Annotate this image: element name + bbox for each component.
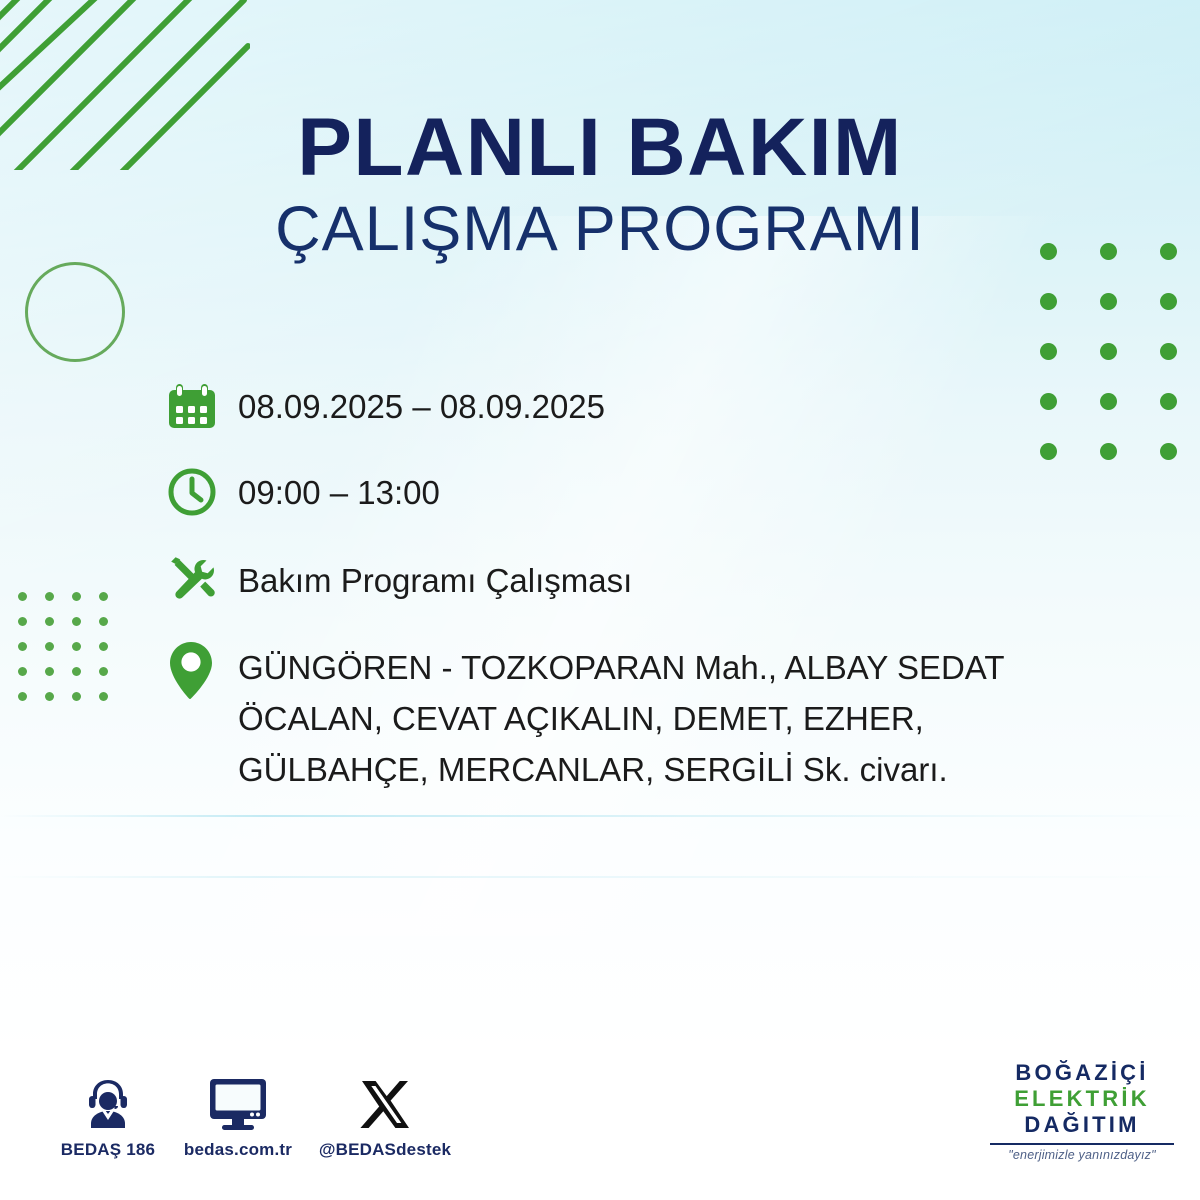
- details-list: 08.09.2025 – 08.09.2025 09:00 – 13:00: [166, 378, 1126, 821]
- contact-x-social[interactable]: @BEDASdestek: [310, 1070, 460, 1160]
- brand-line-bogazici: BOĞAZİÇİ: [982, 1060, 1182, 1086]
- detail-row-time: 09:00 – 13:00: [166, 464, 1126, 518]
- detail-work-type-text: Bakım Programı Çalışması: [238, 552, 632, 605]
- contact-x-label: @BEDASdestek: [319, 1140, 451, 1160]
- contact-website[interactable]: bedas.com.tr: [163, 1070, 313, 1160]
- contact-website-label: bedas.com.tr: [184, 1140, 292, 1160]
- background-band-secondary: [0, 876, 1200, 878]
- brand-line-elektrik: ELEKTRİK: [982, 1086, 1182, 1112]
- detail-row-date: 08.09.2025 – 08.09.2025: [166, 378, 1126, 432]
- x-social-icon: [359, 1070, 411, 1132]
- page-title: PLANLI BAKIM ÇALIŞMA PROGRAMI: [0, 108, 1200, 264]
- contact-phone[interactable]: BEDAŞ 186: [33, 1070, 183, 1160]
- detail-time-text: 09:00 – 13:00: [238, 464, 440, 517]
- contact-phone-label: BEDAŞ 186: [61, 1140, 155, 1160]
- brand-line-dagitim: DAĞITIM: [982, 1112, 1182, 1138]
- detail-date-text: 08.09.2025 – 08.09.2025: [238, 378, 605, 431]
- poster-canvas: PLANLI BAKIM ÇALIŞMA PROGRAMI: [0, 0, 1200, 1200]
- footer: BEDAŞ 186 bedas.com.tr: [0, 1060, 1200, 1200]
- tools-icon: [166, 552, 238, 606]
- monitor-icon: [207, 1070, 269, 1132]
- title-subtitle: ÇALIŞMA PROGRAMI: [0, 194, 1200, 264]
- detail-row-work-type: Bakım Programı Çalışması: [166, 552, 1126, 606]
- map-pin-icon: [166, 638, 238, 702]
- dot-grid-left-decoration: [18, 592, 126, 717]
- brand-logo: BOĞAZİÇİ ELEKTRİK DAĞITIM "enerjimizle y…: [982, 1060, 1182, 1162]
- calendar-icon: [166, 378, 238, 432]
- brand-divider: [990, 1143, 1174, 1145]
- clock-icon: [166, 464, 238, 518]
- title-main: PLANLI BAKIM: [0, 108, 1200, 188]
- detail-row-location: GÜNGÖREN - TOZKOPARAN Mah., ALBAY SEDAT …: [166, 638, 1126, 795]
- circle-outline-decoration: [25, 262, 125, 362]
- headset-operator-icon: [80, 1070, 136, 1132]
- brand-tagline: "enerjimizle yanınızdayız": [982, 1148, 1182, 1162]
- detail-location-text: GÜNGÖREN - TOZKOPARAN Mah., ALBAY SEDAT …: [238, 638, 1118, 795]
